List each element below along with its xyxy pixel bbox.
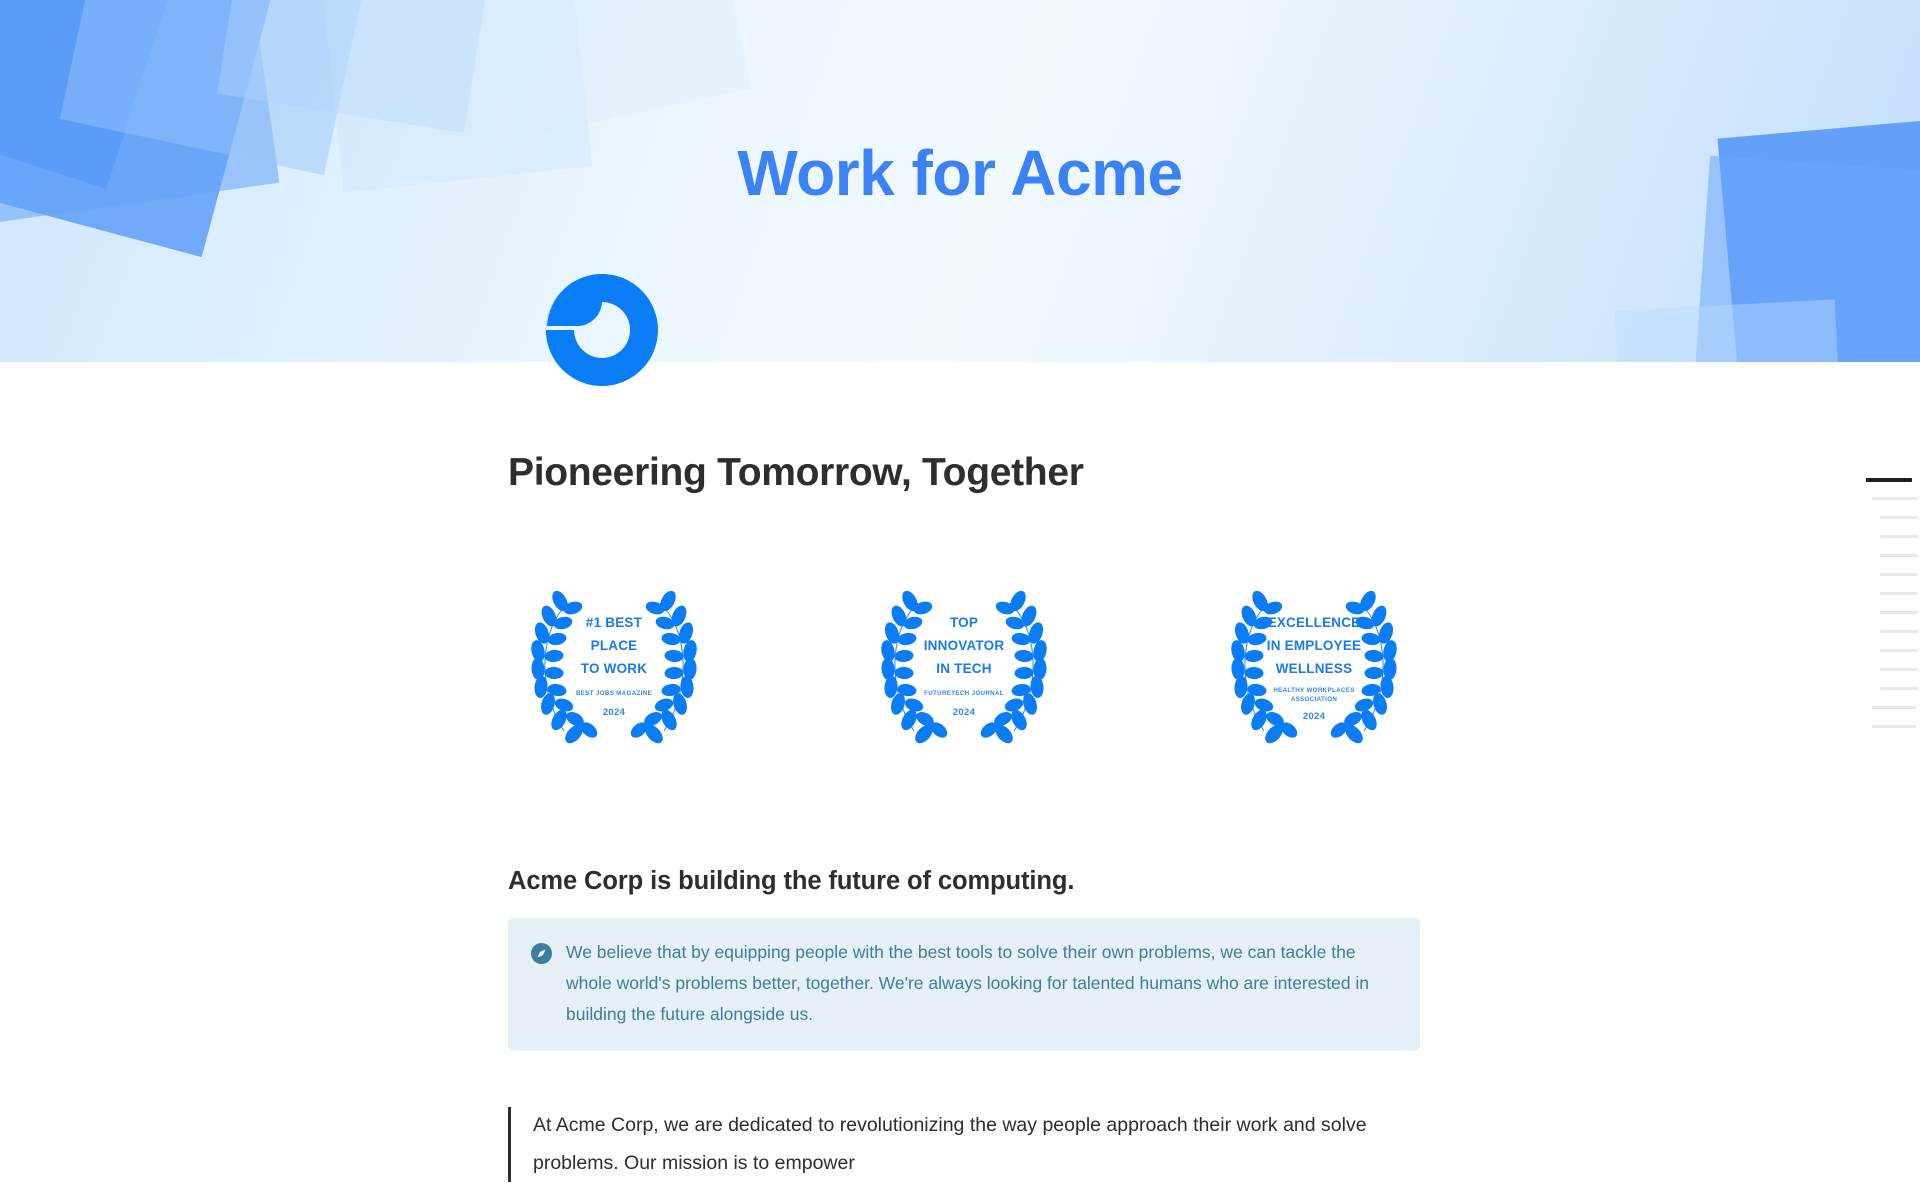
outline-marker[interactable] <box>1850 584 1920 603</box>
main-content: Pioneering Tomorrow, Together <box>508 450 1420 1182</box>
outline-marker[interactable] <box>1850 717 1920 736</box>
laurel-wreath-icon: TOP INNOVATOR IN TECH FUTURETECH JOURNAL… <box>860 581 1068 761</box>
outline-marker[interactable] <box>1850 622 1920 641</box>
decorative-square <box>1615 299 1845 362</box>
callout-text: We believe that by equipping people with… <box>566 937 1390 1030</box>
outline-marker[interactable] <box>1850 546 1920 565</box>
outline-marker[interactable] <box>1850 489 1920 508</box>
outline-marker-bar <box>1880 687 1918 690</box>
badge-title-line: IN EMPLOYEE <box>1267 638 1361 653</box>
outline-marker[interactable] <box>1850 603 1920 622</box>
award-badge: EXCELLENCE IN EMPLOYEE WELLNESS HEALTHY … <box>1210 581 1418 761</box>
badge-organization: HEALTHY WORKPLACES <box>1273 687 1354 694</box>
outline-marker-bar <box>1880 516 1918 519</box>
award-badge: #1 BEST PLACE TO WORK BEST JOBS MAGAZINE… <box>510 581 718 761</box>
badge-title-line: INNOVATOR <box>924 638 1005 653</box>
badge-title-line: WELLNESS <box>1276 661 1353 676</box>
outline-marker[interactable] <box>1850 679 1920 698</box>
callout-box: We believe that by equipping people with… <box>508 918 1420 1051</box>
badge-title-line: TO WORK <box>581 661 647 676</box>
outline-marker-bar <box>1880 592 1918 595</box>
outline-marker-bar <box>1880 649 1918 652</box>
badge-year: 2024 <box>1303 711 1326 722</box>
outline-marker[interactable] <box>1850 698 1920 717</box>
blockquote-text: At Acme Corp, we are dedicated to revolu… <box>533 1107 1420 1182</box>
badge-title-line: EXCELLENCE <box>1268 615 1361 630</box>
page-title: Work for Acme <box>0 138 1920 208</box>
page-root: Work for Acme Pioneering Tomorrow, Toget… <box>0 0 1920 1199</box>
outline-marker-bar <box>1880 535 1918 538</box>
outline-marker-bar <box>1872 725 1916 728</box>
badge-year: 2024 <box>603 707 626 718</box>
outline-marker-bar <box>1880 668 1918 671</box>
outline-marker[interactable] <box>1850 565 1920 584</box>
laurel-wreath-icon: #1 BEST PLACE TO WORK BEST JOBS MAGAZINE… <box>510 581 718 761</box>
badge-organization: BEST JOBS MAGAZINE <box>576 690 652 697</box>
badge-title-line: IN TECH <box>936 661 991 676</box>
badge-year: 2024 <box>953 707 976 718</box>
badge-title-line: TOP <box>950 615 978 630</box>
badge-title-line: PLACE <box>591 638 638 653</box>
hero-banner: Work for Acme <box>0 0 1920 362</box>
outline-marker-bar <box>1880 554 1918 557</box>
outline-marker-bar <box>1880 630 1918 633</box>
heading-building-future: Acme Corp is building the future of comp… <box>508 867 1420 896</box>
badge-organization: FUTURETECH JOURNAL <box>924 690 1004 697</box>
outline-marker-bar <box>1880 611 1918 614</box>
award-badge-list: #1 BEST PLACE TO WORK BEST JOBS MAGAZINE… <box>508 581 1420 761</box>
laurel-wreath-icon: EXCELLENCE IN EMPLOYEE WELLNESS HEALTHY … <box>1210 581 1418 761</box>
badge-title-line: #1 BEST <box>586 615 643 630</box>
outline-marker[interactable] <box>1850 660 1920 679</box>
outline-marker-bar <box>1866 478 1912 482</box>
blockquote: At Acme Corp, we are dedicated to revolu… <box>508 1107 1420 1182</box>
badge-organization: ASSOCIATION <box>1291 696 1338 703</box>
document-outline-minimap[interactable] <box>1850 470 1920 736</box>
outline-marker-bar <box>1872 497 1918 500</box>
outline-marker-bar <box>1880 573 1918 576</box>
acme-ring-logo-icon <box>528 268 676 392</box>
outline-marker[interactable] <box>1850 641 1920 660</box>
heading-pioneering: Pioneering Tomorrow, Together <box>508 450 1420 496</box>
compass-icon <box>530 942 553 965</box>
outline-marker[interactable] <box>1850 527 1920 546</box>
award-badge: TOP INNOVATOR IN TECH FUTURETECH JOURNAL… <box>860 581 1068 761</box>
outline-marker-bar <box>1872 706 1916 709</box>
outline-marker[interactable] <box>1850 508 1920 527</box>
outline-marker[interactable] <box>1850 470 1920 489</box>
